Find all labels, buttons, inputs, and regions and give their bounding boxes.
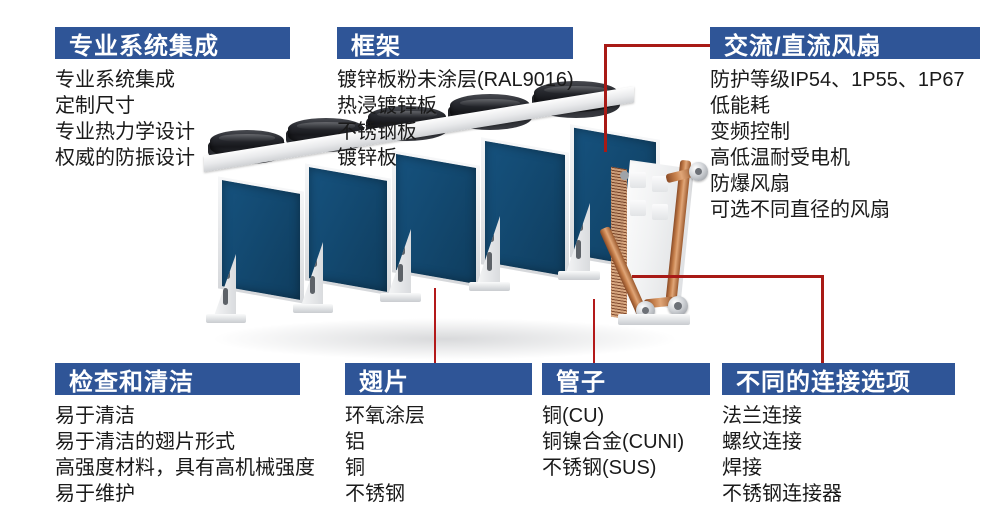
callout-item: 不锈钢 [345,481,532,507]
callout-ac-dc-fan: 交流/直流风扇 防护等级IP54、1P55、1P67 低能耗 变频控制 高低温耐… [710,27,980,223]
callout-item: 法兰连接 [722,403,955,429]
leader-line-fins [434,288,436,363]
casing-label-plate [652,204,668,220]
callout-item: 热浸镀锌板 [337,93,574,119]
bracket-slot [398,264,403,282]
callout-item: 螺纹连接 [722,429,955,455]
bracket-foot-4 [469,282,510,291]
callout-title-tubes: 管子 [542,363,710,395]
callout-body-tubes: 铜(CU) 铜镍合金(CUNI) 不锈钢(SUS) [542,403,710,481]
callout-item: 防爆风扇 [710,171,980,197]
callout-item: 铜 [345,455,532,481]
callout-system-integration: 专业系统集成 专业系统集成 定制尺寸 专业热力学设计 权威的防振设计 [55,27,290,171]
callout-body-ac-dc-fan: 防护等级IP54、1P55、1P67 低能耗 变频控制 高低温耐受电机 防爆风扇… [710,67,980,223]
callout-body-fins: 环氧涂层 铝 铜 不锈钢 [345,403,532,507]
callout-fins: 翅片 环氧涂层 铝 铜 不锈钢 [345,363,532,507]
bracket-foot-2 [293,304,333,313]
callout-item: 镀锌板粉未涂层(RAL9016) [337,67,574,93]
callout-item: 不锈钢板 [337,119,574,145]
casing-label-plate [630,172,646,188]
callout-body-connection-options: 法兰连接 螺纹连接 焊接 不锈钢连接器 [722,403,955,507]
leader-line-connection-vertical [821,275,824,363]
callout-item: 变频控制 [710,119,980,145]
callout-item: 专业系统集成 [55,67,290,93]
leader-line-fan-horizontal [604,44,712,47]
bracket-foot-1 [206,314,246,323]
callout-item: 不锈钢连接器 [722,481,955,507]
callout-body-inspection-cleaning: 易于清洁 易于清洁的翅片形式 高强度材料，具有高机械强度 易于维护 [55,403,315,507]
connection-flange-bottom-a [668,296,688,316]
casing-label-plate [630,200,646,216]
bracket-slot [310,276,315,294]
callout-item: 权威的防振设计 [55,145,290,171]
leader-line-fan-vertical [604,44,607,152]
callout-inspection-cleaning: 检查和清洁 易于清洁 易于清洁的翅片形式 高强度材料，具有高机械强度 易于维护 [55,363,315,507]
callout-title-system-integration: 专业系统集成 [55,27,290,59]
bracket-slot [487,252,492,271]
callout-item: 铜(CU) [542,403,710,429]
product-shadow [210,318,680,360]
connection-flange-top [689,162,708,181]
callout-title-ac-dc-fan: 交流/直流风扇 [710,27,980,59]
base-rail-end [618,314,690,325]
callout-body-frame: 镀锌板粉未涂层(RAL9016) 热浸镀锌板 不锈钢板 镀锌板 [337,67,574,171]
callout-item: 镀锌板 [337,145,574,171]
callout-item: 易于清洁的翅片形式 [55,429,315,455]
bracket-slot [223,288,228,305]
callout-item: 防护等级IP54、1P55、1P67 [710,67,980,93]
bracket-foot-5 [558,271,600,280]
callout-title-fins: 翅片 [345,363,532,395]
callout-item: 可选不同直径的风扇 [710,197,980,223]
callout-item: 定制尺寸 [55,93,290,119]
callout-frame: 框架 镀锌板粉未涂层(RAL9016) 热浸镀锌板 不锈钢板 镀锌板 [337,27,574,171]
casing-bolt [620,171,629,180]
callout-item: 焊接 [722,455,955,481]
callout-item: 低能耗 [710,93,980,119]
leader-line-connection-horizontal [632,275,824,278]
leader-line-tubes [593,299,595,363]
callout-title-connection-options: 不同的连接选项 [722,363,955,395]
callout-item: 铝 [345,429,532,455]
callout-item: 铜镍合金(CUNI) [542,429,710,455]
callout-item: 易于清洁 [55,403,315,429]
bracket-foot-3 [380,293,421,302]
callout-item: 高低温耐受电机 [710,145,980,171]
callout-tubes: 管子 铜(CU) 铜镍合金(CUNI) 不锈钢(SUS) [542,363,710,481]
callout-title-frame: 框架 [337,27,573,59]
callout-item: 高强度材料，具有高机械强度 [55,455,315,481]
callout-item: 不锈钢(SUS) [542,455,710,481]
diagram-canvas: 专业系统集成 专业系统集成 定制尺寸 专业热力学设计 权威的防振设计 框架 镀锌… [0,0,1000,527]
callout-connection-options: 不同的连接选项 法兰连接 螺纹连接 焊接 不锈钢连接器 [722,363,955,507]
callout-body-system-integration: 专业系统集成 定制尺寸 专业热力学设计 权威的防振设计 [55,67,290,171]
bracket-slot [576,240,581,259]
callout-item: 易于维护 [55,481,315,507]
callout-title-inspection-cleaning: 检查和清洁 [55,363,300,395]
callout-item: 专业热力学设计 [55,119,290,145]
callout-item: 环氧涂层 [345,403,532,429]
